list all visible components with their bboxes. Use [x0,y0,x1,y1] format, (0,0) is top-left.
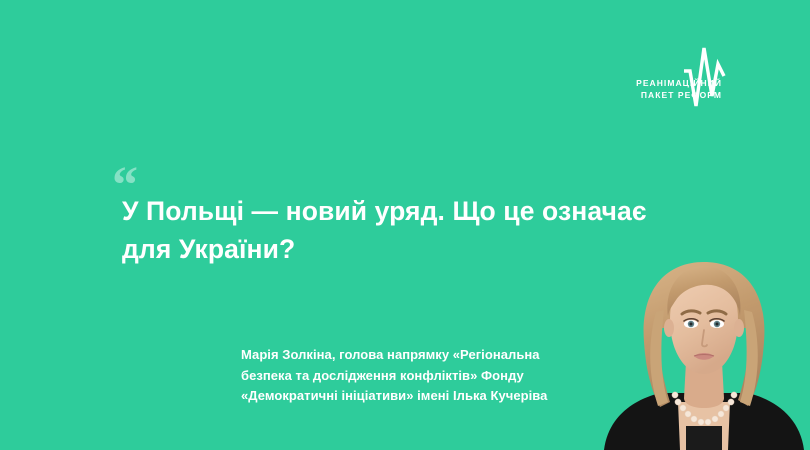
headline-line-1: У Польщі — новий уряд. Що це означає [122,196,647,226]
quote-card: РЕАНІМАЦІЙНИЙ ПАКЕТ РЕФОРМ “ У Польщі — … [0,0,810,450]
attribution: Марія Золкіна, голова напрямку «Регіонал… [241,345,601,407]
attribution-line-1: Марія Золкіна, голова напрямку «Регіонал… [241,345,601,366]
attribution-line-3: «Демократичні ініціативи» імені Ілька Ку… [241,386,601,407]
logo-line-1: РЕАНІМАЦІЙНИЙ [636,78,722,88]
logo-wordmark: РЕАНІМАЦІЙНИЙ ПАКЕТ РЕФОРМ [618,78,722,101]
headline-line-2: для України? [122,234,295,264]
speaker-portrait [598,250,810,450]
ecg-waveform-icon [612,40,772,112]
attribution-line-2: безпека та дослідження конфліктів» Фонду [241,366,601,387]
logo-line-2: ПАКЕТ РЕФОРМ [641,90,722,100]
brand-logo: РЕАНІМАЦІЙНИЙ ПАКЕТ РЕФОРМ [612,40,772,112]
